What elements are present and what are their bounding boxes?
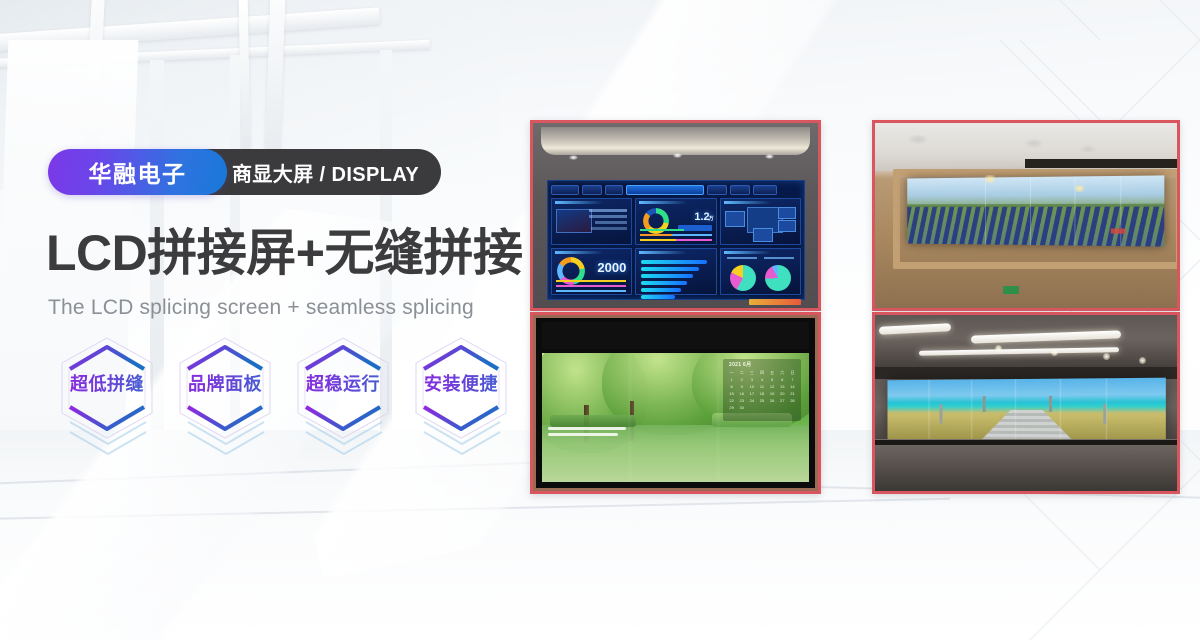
feature-label: 品牌面板 bbox=[166, 370, 284, 396]
calendar-overlay: 2021 6月 一 二 三 四 五 六 日 1 2 3 4 bbox=[723, 359, 801, 421]
feature-label: 安装便捷 bbox=[402, 370, 520, 396]
photo-solar-farm-video-wall bbox=[872, 120, 1180, 311]
page-title: LCD拼接屏+无缝拼接 bbox=[46, 228, 522, 278]
video-wall-screen bbox=[887, 378, 1165, 443]
brand-badge: 华融电子 bbox=[48, 149, 227, 195]
feature-item-1: 超低拼缝 bbox=[48, 332, 166, 444]
badge-row: 商显大屏 / DISPLAY 华融电子 bbox=[48, 149, 227, 195]
dashboard-metric-primary: 1.2 bbox=[694, 211, 709, 223]
feature-item-4: 安装便捷 bbox=[402, 332, 520, 444]
product-banner: 商显大屏 / DISPLAY 华融电子 LCD拼接屏+无缝拼接 The LCD … bbox=[0, 0, 1200, 640]
photo-beach-boardwalk-video-wall bbox=[872, 312, 1180, 494]
page-subtitle: The LCD splicing screen + seamless splic… bbox=[48, 296, 474, 320]
dashboard-metric-unit: 万 bbox=[709, 215, 714, 222]
feature-item-2: 品牌面板 bbox=[166, 332, 284, 444]
dashboard-screen: 1.2 万 bbox=[547, 180, 805, 300]
banner-content: 商显大屏 / DISPLAY 华融电子 LCD拼接屏+无缝拼接 The LCD … bbox=[0, 0, 1200, 640]
photo-willow-lake-video-wall: 2021 6月 一 二 三 四 五 六 日 1 2 3 4 bbox=[530, 312, 821, 494]
video-wall-screen: 2021 6月 一 二 三 四 五 六 日 1 2 3 4 bbox=[542, 353, 809, 482]
feature-item-3: 超稳运行 bbox=[284, 332, 402, 444]
photo-dashboard-video-wall: 1.2 万 bbox=[530, 120, 821, 311]
feature-label: 超低拼缝 bbox=[48, 370, 166, 396]
dashboard-metric-secondary: 2000 bbox=[597, 260, 626, 275]
feature-list: 超低拼缝 品牌面板 超稳运行 bbox=[48, 332, 520, 444]
feature-label: 超稳运行 bbox=[284, 370, 402, 396]
calendar-title: 2021 6月 bbox=[729, 361, 751, 368]
calendar-grid: 一 二 三 四 五 六 日 1 2 3 4 5 6 bbox=[727, 370, 797, 411]
